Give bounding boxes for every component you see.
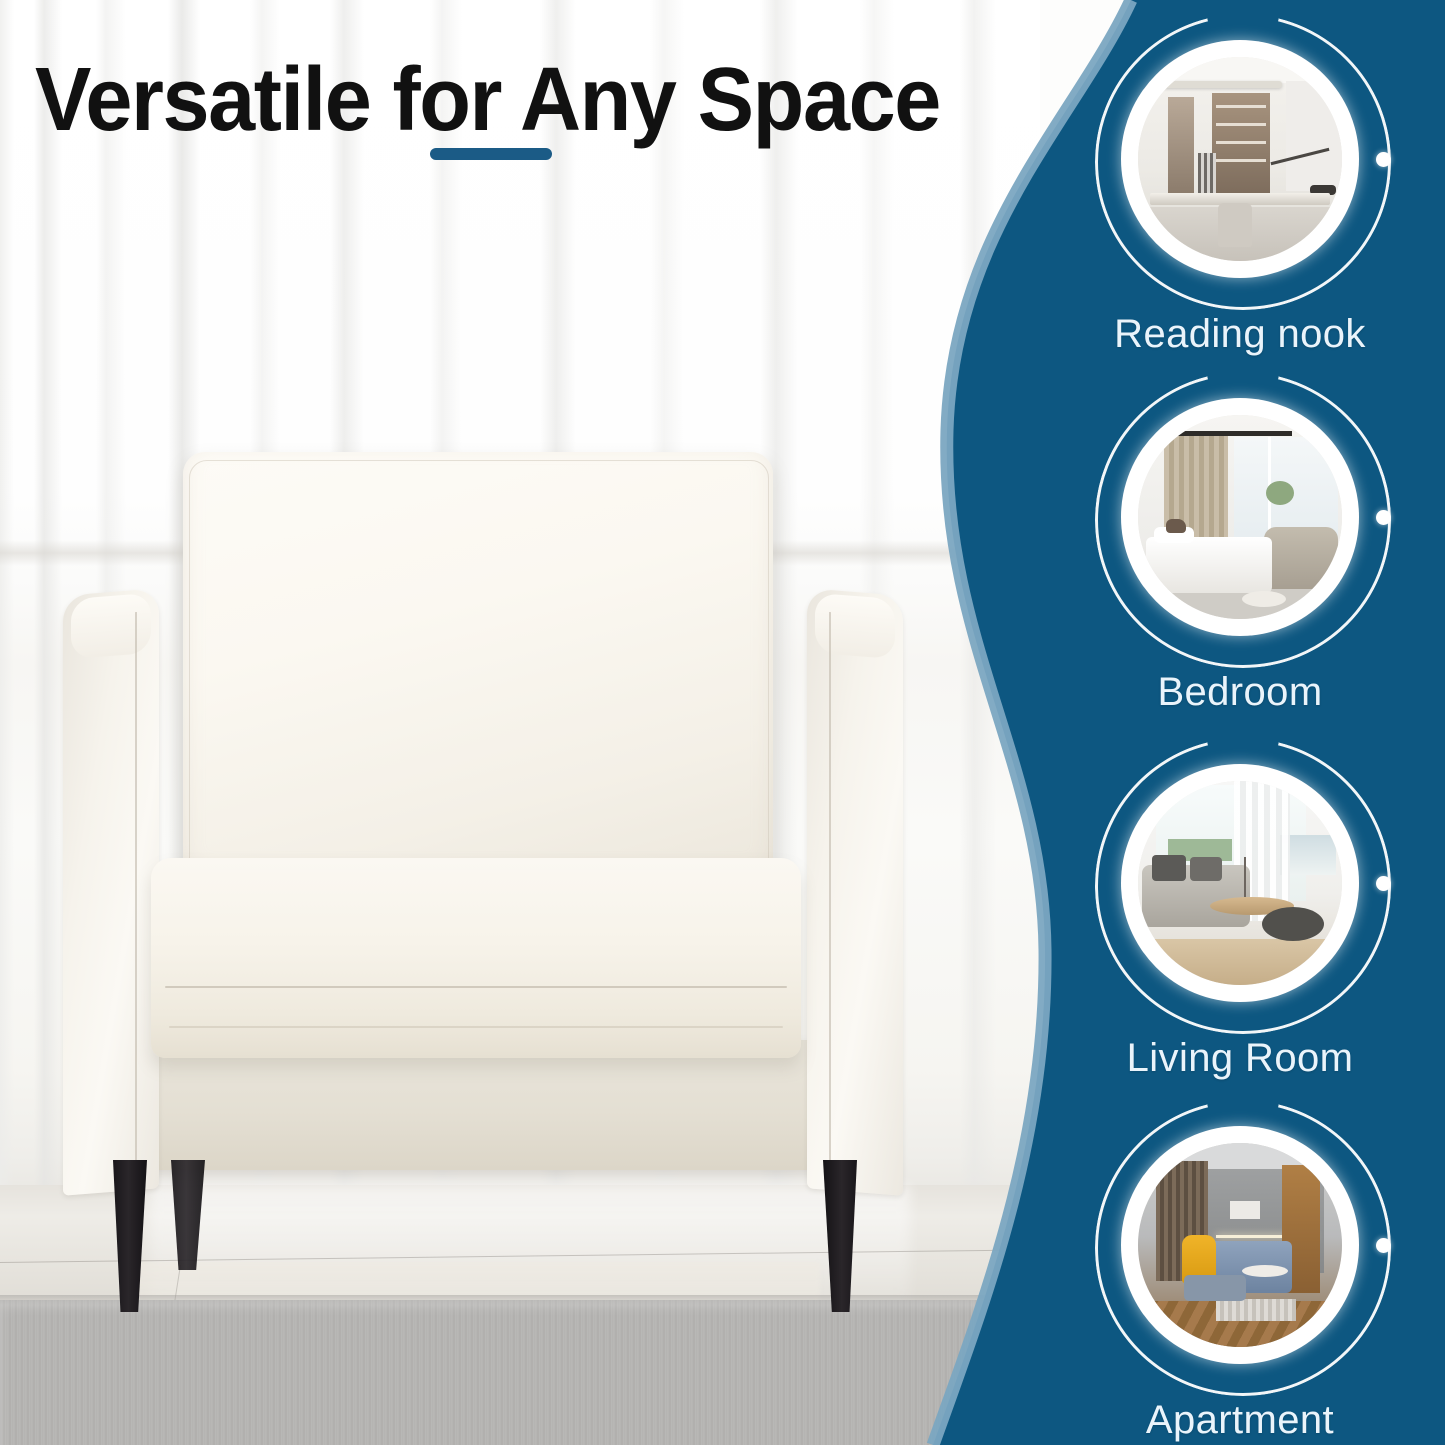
scene-thumbnail-living-room xyxy=(1138,781,1342,985)
use-case-label: Bedroom xyxy=(1090,670,1390,715)
arm-top-right xyxy=(815,593,895,659)
chair-base-frame xyxy=(127,1040,827,1170)
chair-seat-cushion xyxy=(151,858,801,1058)
chair-leg-back-left xyxy=(171,1160,205,1270)
use-case-list: Reading nook xyxy=(925,0,1445,1445)
connector-dot-icon xyxy=(1376,152,1391,167)
arm-welt-right xyxy=(829,612,831,1172)
circle-frame xyxy=(1095,14,1385,304)
page-title: Versatile for Any Space xyxy=(35,55,940,145)
connector-dot-icon xyxy=(1376,876,1391,891)
scene-thumbnail-apartment xyxy=(1138,1143,1342,1347)
use-case-card-reading-nook[interactable]: Reading nook xyxy=(1090,14,1390,357)
chair-arm-right xyxy=(807,588,903,1196)
seat-welt-front xyxy=(165,986,787,988)
use-case-card-living-room[interactable]: Living Room xyxy=(1090,738,1390,1081)
connector-dot-icon xyxy=(1376,1238,1391,1253)
arm-welt-left xyxy=(135,612,137,1172)
connector-dot-icon xyxy=(1376,510,1391,525)
arm-top-left xyxy=(71,593,151,659)
marketing-image: Versatile for Any Space xyxy=(0,0,1445,1445)
use-case-label: Reading nook xyxy=(1090,312,1390,357)
circle-frame xyxy=(1095,1100,1385,1390)
chair-arm-left xyxy=(63,588,159,1196)
seat-welt-lower xyxy=(169,1026,783,1028)
scene-thumbnail-bedroom xyxy=(1138,415,1342,619)
armchair xyxy=(55,440,915,1260)
use-case-label: Apartment xyxy=(1090,1398,1390,1443)
use-case-card-apartment[interactable]: Apartment xyxy=(1090,1100,1390,1443)
circle-frame xyxy=(1095,738,1385,1028)
chair-back-cushion xyxy=(183,452,773,884)
title-underline-accent xyxy=(430,148,552,160)
back-cushion-welt xyxy=(189,460,769,878)
blue-side-panel: Reading nook xyxy=(925,0,1445,1445)
use-case-card-bedroom[interactable]: Bedroom xyxy=(1090,372,1390,715)
circle-frame xyxy=(1095,372,1385,662)
scene-thumbnail-reading-nook xyxy=(1138,57,1342,261)
use-case-label: Living Room xyxy=(1090,1036,1390,1081)
